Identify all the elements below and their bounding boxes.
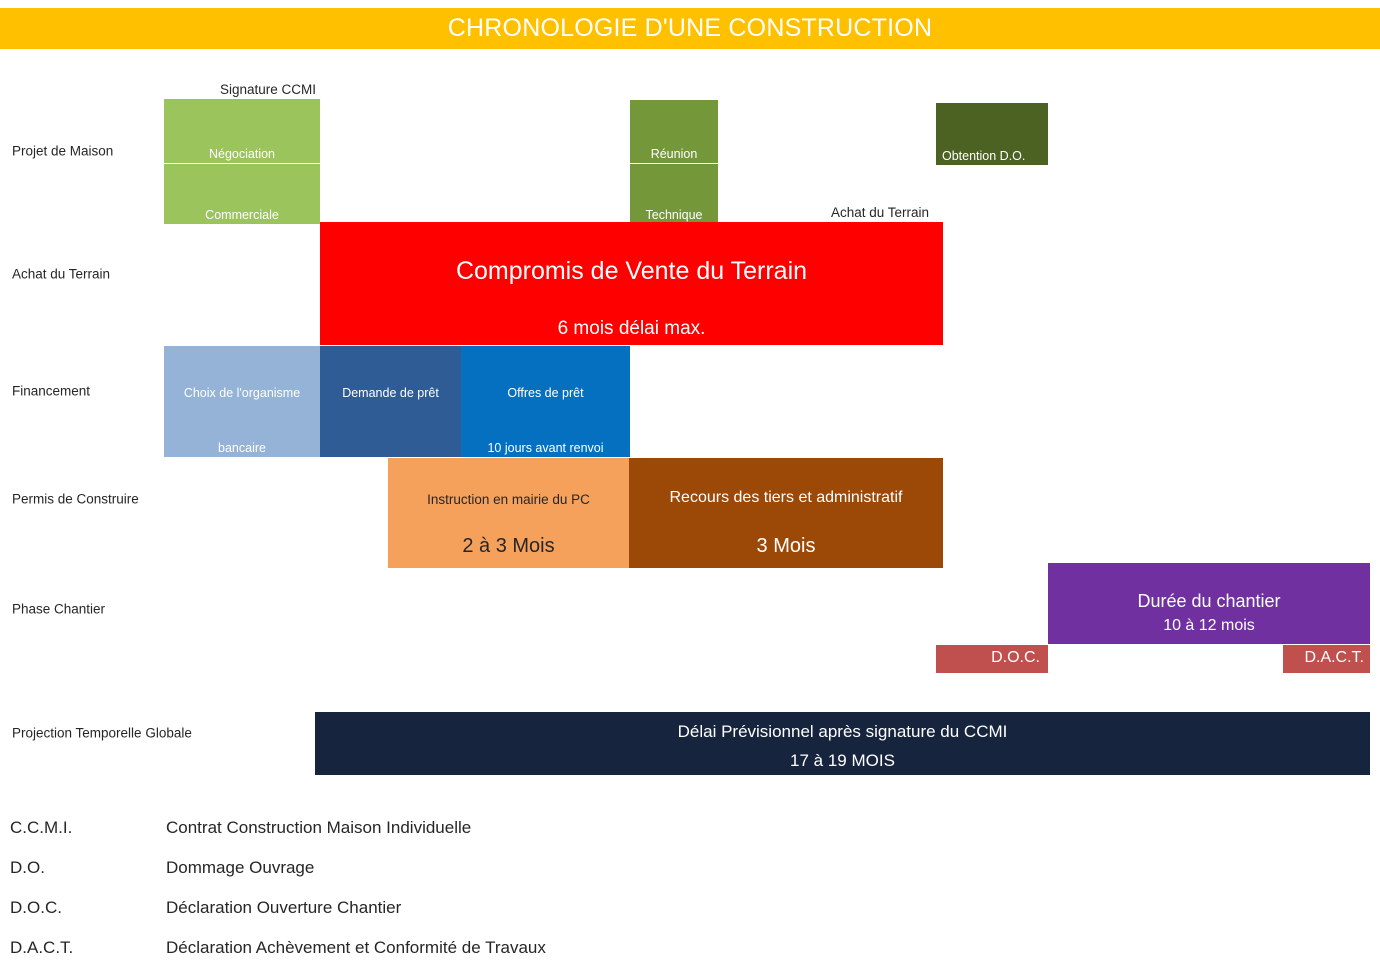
- legend-def-dact: Déclaration Achèvement et Conformité de …: [166, 938, 546, 958]
- bar-recours-tiers-administratif[interactable]: Recours des tiers et administratif 3 Moi…: [629, 458, 943, 568]
- row-label-projet-de-maison: Projet de Maison: [12, 144, 113, 159]
- bar-demande-de-pret[interactable]: Demande de prêt: [320, 346, 461, 457]
- bar-label-compromis-title: Compromis de Vente du Terrain: [320, 257, 943, 286]
- bar-label-choix-organisme: Choix de l'organisme: [184, 386, 300, 402]
- bar-label-doc: D.O.C.: [991, 649, 1040, 667]
- bar-label-delai-previsionnel: Délai Prévisionnel après signature du CC…: [315, 722, 1370, 742]
- bar-label-dact: D.A.C.T.: [1304, 649, 1364, 667]
- legend-def-ccmi: Contrat Construction Maison Individuelle: [166, 818, 471, 838]
- legend-item-ccmi: C.C.M.I. Contrat Construction Maison Ind…: [0, 808, 1380, 848]
- bar-label-instruction-pc: Instruction en mairie du PC: [388, 492, 629, 507]
- bar-offres-de-pret[interactable]: Offres de prêt 10 jours avant renvoi: [461, 346, 630, 457]
- annotation-signature-ccmi: Signature CCMI: [220, 82, 316, 97]
- bar-label-recours: Recours des tiers et administratif: [629, 489, 943, 507]
- row-label-achat-du-terrain: Achat du Terrain: [12, 267, 110, 282]
- bar-choix-organisme-bancaire[interactable]: Choix de l'organisme bancaire: [164, 346, 320, 457]
- bar-label-bancaire: bancaire: [218, 441, 266, 457]
- legend-abbr-ccmi: C.C.M.I.: [10, 818, 72, 838]
- bar-label-delai-months: 17 à 19 MOIS: [315, 751, 1370, 771]
- bar-instruction-mairie-pc[interactable]: Instruction en mairie du PC 2 à 3 Mois: [388, 458, 629, 568]
- bar-reunion-technique[interactable]: Réunion Technique: [630, 100, 718, 224]
- abbreviation-legend: C.C.M.I. Contrat Construction Maison Ind…: [0, 800, 1380, 958]
- legend-def-doc: Déclaration Ouverture Chantier: [166, 898, 401, 918]
- bar-label-obtention-do: Obtention D.O.: [936, 149, 1025, 165]
- row-label-projection-temporelle-globale: Projection Temporelle Globale: [12, 726, 192, 741]
- legend-abbr-doc: D.O.C.: [10, 898, 62, 918]
- row-label-financement: Financement: [12, 384, 90, 399]
- bar-label-commerciale: Commerciale: [205, 208, 279, 224]
- bar-label-duree-chantier: Durée du chantier: [1048, 591, 1370, 612]
- bar-negociation-commerciale[interactable]: Négociation Commerciale: [164, 99, 320, 224]
- row-label-permis-de-construire: Permis de Construire: [12, 492, 139, 507]
- bar-obtention-do[interactable]: Obtention D.O.: [936, 103, 1048, 165]
- annotation-achat-du-terrain: Achat du Terrain: [831, 205, 929, 220]
- bar-compromis-vente-terrain[interactable]: Compromis de Vente du Terrain 6 mois dél…: [320, 222, 943, 345]
- legend-abbr-do: D.O.: [10, 858, 45, 878]
- legend-item-dact: D.A.C.T. Déclaration Achèvement et Confo…: [0, 928, 1380, 968]
- bar-label-instruction-duration: 2 à 3 Mois: [388, 535, 629, 558]
- bar-delai-previsionnel[interactable]: Délai Prévisionnel après signature du CC…: [315, 712, 1370, 775]
- legend-item-doc: D.O.C. Déclaration Ouverture Chantier: [0, 888, 1380, 928]
- legend-def-do: Dommage Ouvrage: [166, 858, 314, 878]
- bar-duree-du-chantier[interactable]: Durée du chantier 10 à 12 mois: [1048, 563, 1370, 644]
- bar-label-duree-chantier-months: 10 à 12 mois: [1048, 617, 1370, 635]
- bar-label-reunion: Réunion: [651, 147, 698, 163]
- legend-item-do: D.O. Dommage Ouvrage: [0, 848, 1380, 888]
- bar-doc-badge[interactable]: D.O.C.: [936, 645, 1048, 673]
- bar-label-offres-delai: 10 jours avant renvoi: [487, 441, 603, 457]
- timeline-chart: Projet de Maison Achat du Terrain Financ…: [0, 0, 1380, 790]
- bar-label-compromis-duration: 6 mois délai max.: [320, 318, 943, 340]
- bar-label-demande-de-pret: Demande de prêt: [342, 386, 439, 402]
- bar-label-offres-de-pret: Offres de prêt: [507, 386, 583, 402]
- bar-label-recours-duration: 3 Mois: [629, 535, 943, 558]
- row-label-phase-chantier: Phase Chantier: [12, 602, 105, 617]
- legend-abbr-dact: D.A.C.T.: [10, 938, 73, 958]
- bar-dact-badge[interactable]: D.A.C.T.: [1283, 645, 1370, 673]
- bar-label-negociation: Négociation: [209, 147, 275, 163]
